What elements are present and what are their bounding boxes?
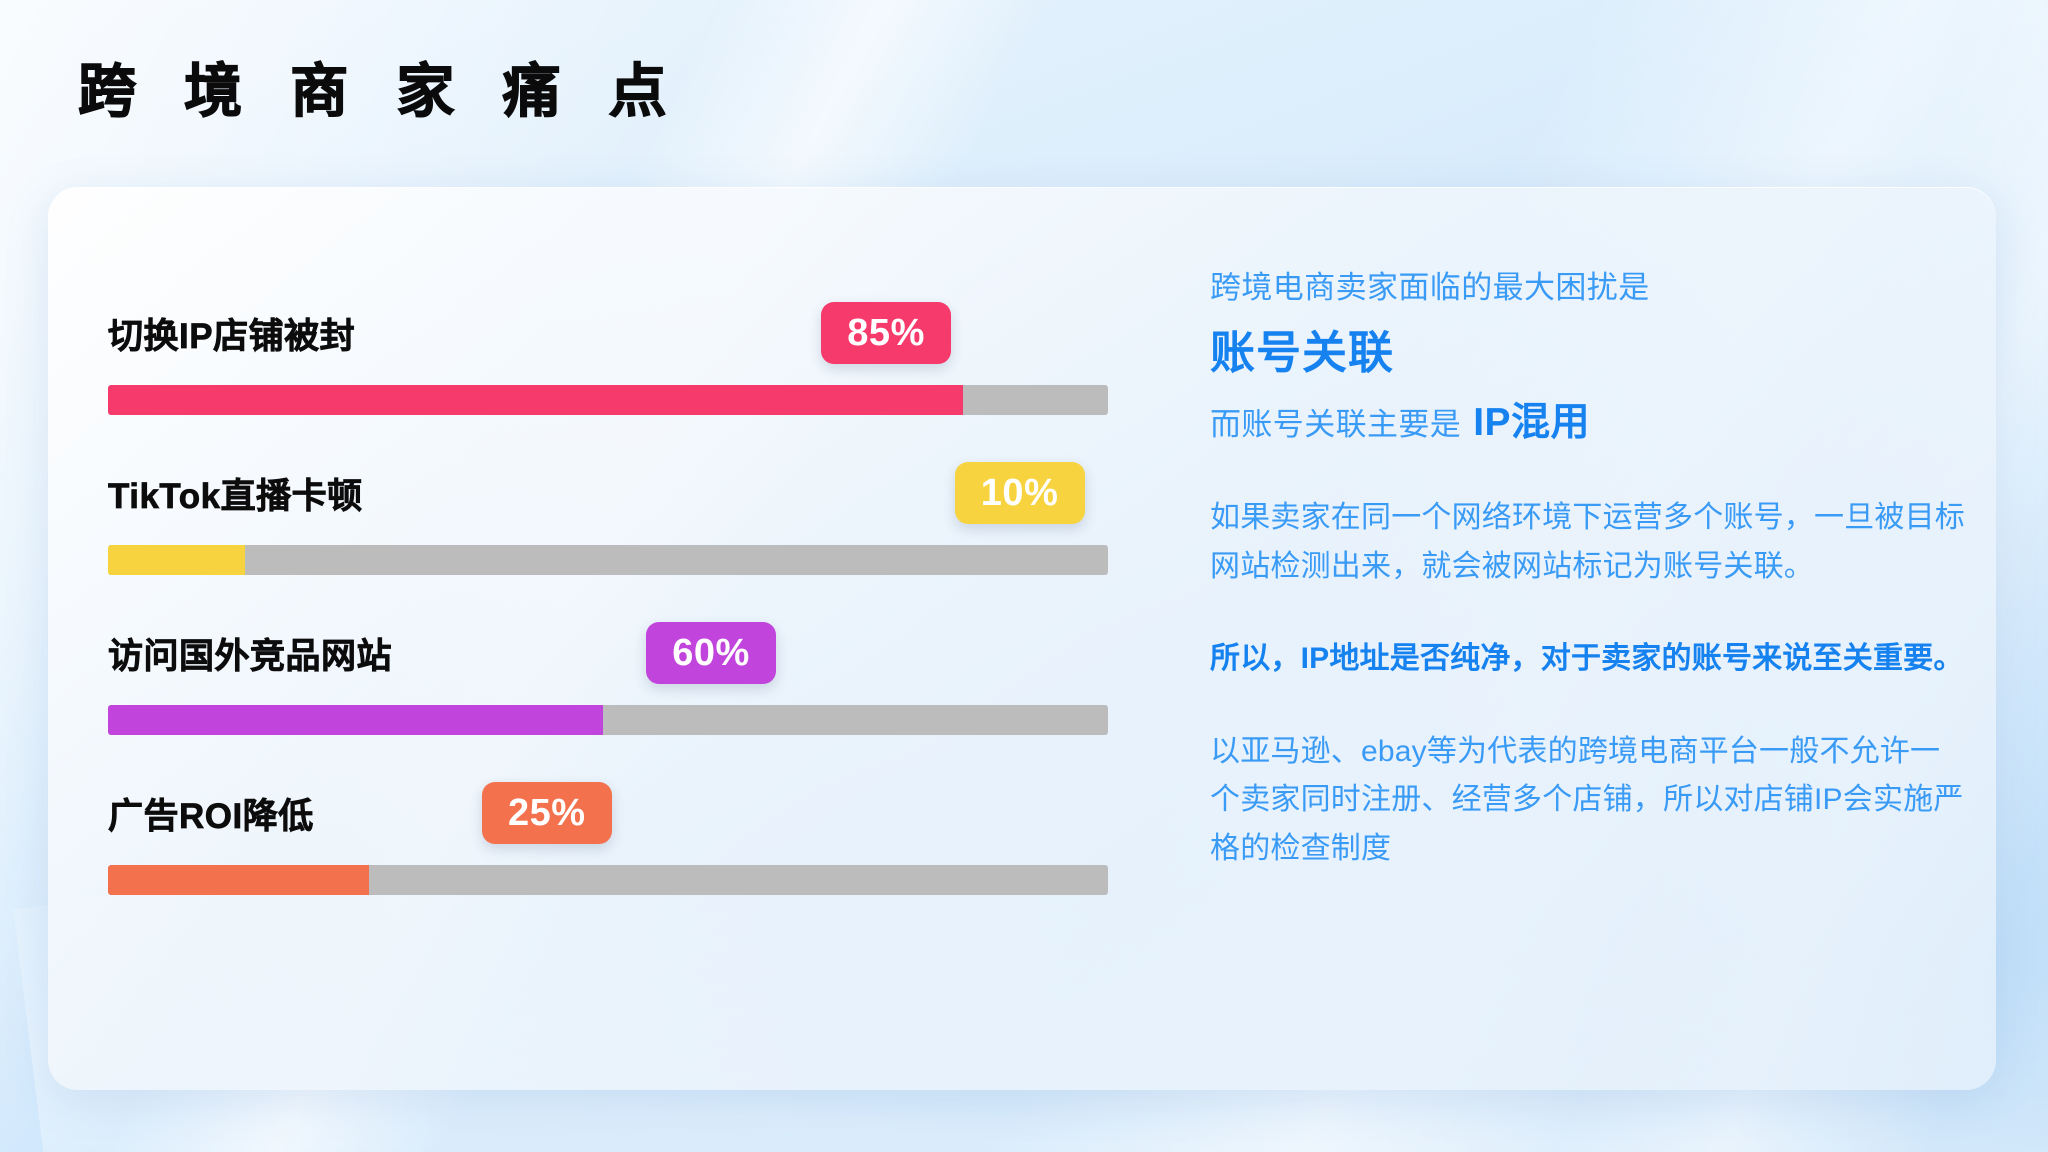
bar-track <box>108 545 1108 575</box>
bar-fill <box>108 705 603 735</box>
slide-canvas: 跨 境 商 家 痛 点 切换IP店铺被封 85% TikTok直播卡顿 10% <box>0 0 2048 1152</box>
bar-row: 切换IP店铺被封 85% <box>108 295 1148 455</box>
copy-subline-accent: IP混用 <box>1473 401 1590 444</box>
copy-paragraph-1: 如果卖家在同一个网络环境下运营多个账号，一旦被目标网站检测出来，就会被网站标记为… <box>1210 494 1970 591</box>
bar-fill <box>108 385 963 415</box>
bar-value-badge: 85% <box>821 302 951 364</box>
copy-subline: 而账号关联主要是IP混用 <box>1210 396 1970 451</box>
bar-row: 访问国外竞品网站 60% <box>108 615 1148 775</box>
copy-headline: 账号关联 <box>1210 326 1970 380</box>
bar-value-badge: 25% <box>482 782 612 844</box>
bar-row: 广告ROI降低 25% <box>108 775 1148 935</box>
copy-paragraph-3: 以亚马逊、ebay等为代表的跨境电商平台一般不允许一个卖家同时注册、经营多个店铺… <box>1210 728 1970 874</box>
bar-header: TikTok直播卡顿 10% <box>108 455 1148 531</box>
bar-fill <box>108 545 245 575</box>
copy-paragraph-2: 所以，IP地址是否纯净，对于卖家的账号来说至关重要。 <box>1210 635 1970 684</box>
bar-header: 广告ROI降低 25% <box>108 775 1148 851</box>
page-title: 跨 境 商 家 痛 点 <box>78 62 683 123</box>
bar-label: 切换IP店铺被封 <box>108 308 355 359</box>
bar-label: 访问国外竞品网站 <box>108 628 392 679</box>
bar-track <box>108 865 1108 895</box>
content-card: 切换IP店铺被封 85% TikTok直播卡顿 10% 访问国外竞品网站 <box>48 187 1996 1090</box>
bar-label: 广告ROI降低 <box>108 788 314 839</box>
copy-lead: 跨境电商卖家面临的最大困扰是 <box>1210 265 1970 312</box>
copy-subline-prefix: 而账号关联主要是 <box>1210 407 1461 442</box>
bar-value-badge: 60% <box>646 622 776 684</box>
pain-point-bar-chart: 切换IP店铺被封 85% TikTok直播卡顿 10% 访问国外竞品网站 <box>108 295 1148 935</box>
bar-header: 切换IP店铺被封 85% <box>108 295 1148 371</box>
bar-track <box>108 385 1108 415</box>
bar-value-badge: 10% <box>955 462 1085 524</box>
bar-track <box>108 705 1108 735</box>
bar-fill <box>108 865 369 895</box>
bar-header: 访问国外竞品网站 60% <box>108 615 1148 691</box>
bar-label: TikTok直播卡顿 <box>108 468 363 519</box>
bar-row: TikTok直播卡顿 10% <box>108 455 1148 615</box>
explanation-panel: 跨境电商卖家面临的最大困扰是 账号关联 而账号关联主要是IP混用 如果卖家在同一… <box>1210 265 1970 874</box>
